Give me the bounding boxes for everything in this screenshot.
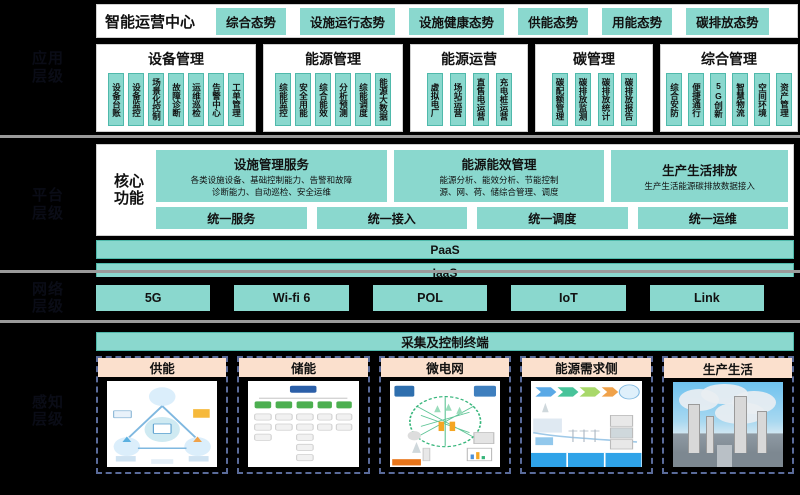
operations-center-title: 智能运营中心: [105, 11, 195, 32]
capability-facility-management-service[interactable]: 设施管理服务 各类设施设备、基础控制能力、告警和故障 诊断能力、自动巡检、安全运…: [156, 150, 387, 202]
chip-virtual-power-plant[interactable]: 虚拟电厂: [427, 73, 443, 126]
chip-carbon-report[interactable]: 碳排放报告: [621, 73, 637, 126]
intelligent-operations-center-bar: 智能运营中心 综合态势 设施运行态势 设施健康态势 供能态势 用能态势 碳排放态…: [96, 4, 798, 38]
group-items: 设备台账 设备监控 场景化控制 故障诊断 运维巡检 告警中心 工单管理: [108, 73, 244, 126]
card-title: 供能: [98, 358, 226, 377]
chip-energy-big-data[interactable]: 能源大数据: [375, 73, 391, 126]
sensing-card-energy-supply[interactable]: 供能: [96, 356, 228, 474]
card-title: 生产生活: [664, 358, 792, 378]
network-layer: 网络 层级 5G Wi-fi 6 POL IoT Link: [0, 277, 800, 319]
layer-separator-1: [0, 135, 800, 138]
chip-space-environment[interactable]: 空间环境: [754, 73, 770, 126]
capability-subtitle: 能源分析、能效分析、节能控制 源、网、荷、储综合管理、调度: [439, 175, 558, 197]
status-pill-energy-use[interactable]: 用能态势: [602, 8, 672, 35]
storage-flowchart-icon: [248, 381, 358, 467]
chip-5g-innovation[interactable]: 5G创新: [710, 73, 726, 126]
unified-dispatch[interactable]: 统一调度: [477, 207, 628, 229]
core-function-card: 核心 功能 设施管理服务 各类设施设备、基础控制能力、告警和故障 诊断能力、自动…: [96, 144, 794, 236]
energy-supply-diagram-icon: [107, 381, 217, 467]
group-energy-management: 能源管理 综能监控 安全用能 综合能效 分析预测 综能调度 能源大数据: [263, 44, 403, 132]
unified-operation[interactable]: 统一运维: [638, 207, 789, 229]
chip-facility-ledger[interactable]: 设备台账: [108, 73, 124, 126]
group-title: 碳管理: [573, 49, 615, 69]
network-chip-wifi6[interactable]: Wi-fi 6: [234, 285, 348, 311]
group-facility-management: 设备管理 设备台账 设备监控 场景化控制 故障诊断 运维巡检 告警中心 工单管理: [96, 44, 256, 132]
chip-direct-power-sales[interactable]: 直售电运营: [473, 73, 489, 126]
group-title: 设备管理: [148, 49, 204, 69]
group-items: 碳配额管理 碳排放监测 碳排放统计 碳排放报告: [552, 73, 637, 126]
capability-production-living-emission[interactable]: 生产生活排放 生产生活能源碳排放数据接入: [611, 150, 788, 202]
sensing-layer: 感知 层级 采集及控制终端 供能: [0, 327, 800, 495]
card-title: 能源需求侧: [522, 358, 650, 377]
network-chip-5g[interactable]: 5G: [96, 285, 210, 311]
acquisition-control-terminal-bar[interactable]: 采集及控制终端: [96, 332, 794, 351]
chip-comprehensive-efficiency[interactable]: 综合能效: [315, 73, 331, 126]
capability-title: 能源能效管理: [461, 154, 536, 173]
chip-carbon-monitoring[interactable]: 碳排放监测: [575, 73, 591, 126]
architecture-diagram: 应用 层级 智能运营中心 综合态势 设施运行态势 设施健康态势 供能态势 用能态…: [0, 0, 800, 495]
layer-separator-2: [0, 270, 800, 273]
network-layer-label: 网络 层级: [0, 277, 96, 319]
capability-subtitle: 各类设施设备、基础控制能力、告警和故障 诊断能力、自动巡检、安全运维: [191, 175, 353, 197]
unified-services-row: 统一服务 统一接入 统一调度 统一运维: [156, 207, 788, 229]
demand-side-flow-diagram-icon: [531, 381, 641, 467]
chip-energy-monitor[interactable]: 综能监控: [275, 73, 291, 126]
layer-separator-3: [0, 320, 800, 323]
platform-layer-label: 平台 层级: [0, 141, 96, 268]
industrial-smokestacks-photo: [673, 382, 783, 467]
network-chips: 5G Wi-fi 6 POL IoT Link: [96, 284, 794, 312]
sensing-layer-label: 感知 层级: [0, 327, 96, 495]
application-groups: 设备管理 设备台账 设备监控 场景化控制 故障诊断 运维巡检 告警中心 工单管理…: [96, 44, 798, 132]
group-items: 综合安防 便捷通行 5G创新 智慧物流 空间环境 资产管理: [666, 73, 792, 126]
capability-title: 设施管理服务: [234, 154, 309, 173]
application-layer-label: 应用 层级: [0, 0, 96, 135]
status-pill-facility-operation[interactable]: 设施运行态势: [300, 8, 395, 35]
network-chip-pol[interactable]: POL: [373, 285, 487, 311]
group-title: 综合管理: [701, 49, 757, 69]
sensing-card-energy-demand-side[interactable]: 能源需求侧: [520, 356, 652, 474]
sensing-cards: 供能: [96, 356, 794, 474]
capability-title: 生产生活排放: [662, 160, 737, 179]
chip-asset-management[interactable]: 资产管理: [776, 73, 792, 126]
unified-service[interactable]: 统一服务: [156, 207, 307, 229]
chip-alarm-center[interactable]: 告警中心: [208, 73, 224, 126]
chip-energy-dispatch[interactable]: 综能调度: [355, 73, 371, 126]
card-title: 微电网: [381, 358, 509, 377]
chip-scenario-control[interactable]: 场景化控制: [148, 73, 164, 126]
group-energy-operation: 能源运营 虚拟电厂 场站运营 直售电运营 充电桩运营: [410, 44, 528, 132]
microgrid-network-diagram-icon: [390, 381, 500, 467]
status-pill-overall[interactable]: 综合态势: [216, 8, 286, 35]
chip-carbon-statistics[interactable]: 碳排放统计: [598, 73, 614, 126]
status-pill-energy-supply[interactable]: 供能态势: [518, 8, 588, 35]
chip-work-order[interactable]: 工单管理: [228, 73, 244, 126]
capability-subtitle: 生产生活能源碳排放数据接入: [644, 181, 755, 192]
chip-station-operation[interactable]: 场站运营: [450, 73, 466, 126]
chip-smart-logistics[interactable]: 智慧物流: [732, 73, 748, 126]
sensing-card-energy-storage[interactable]: 储能: [237, 356, 369, 474]
sensing-card-microgrid[interactable]: 微电网: [379, 356, 511, 474]
group-integrated-management: 综合管理 综合安防 便捷通行 5G创新 智慧物流 空间环境 资产管理: [660, 44, 798, 132]
chip-integrated-security[interactable]: 综合安防: [666, 73, 682, 126]
chip-ops-inspection[interactable]: 运维巡检: [188, 73, 204, 126]
paas-bar[interactable]: PaaS: [96, 240, 794, 259]
group-items: 虚拟电厂 场站运营 直售电运营 充电桩运营: [427, 73, 512, 126]
group-carbon-management: 碳管理 碳配额管理 碳排放监测 碳排放统计 碳排放报告: [535, 44, 653, 132]
unified-access[interactable]: 统一接入: [317, 207, 468, 229]
chip-safe-energy-use[interactable]: 安全用能: [295, 73, 311, 126]
application-layer: 应用 层级 智能运营中心 综合态势 设施运行态势 设施健康态势 供能态势 用能态…: [0, 0, 800, 135]
chip-charging-pile-operation[interactable]: 充电桩运营: [496, 73, 512, 126]
status-pill-carbon-emission[interactable]: 碳排放态势: [686, 8, 769, 35]
chip-fault-diagnosis[interactable]: 故障诊断: [168, 73, 184, 126]
core-function-label: 核心 功能: [102, 150, 156, 230]
network-chip-iot[interactable]: IoT: [511, 285, 625, 311]
platform-layer: 平台 层级 核心 功能 设施管理服务 各类设施设备、基础控制能力、告警和故障 诊…: [0, 141, 800, 268]
chip-facility-monitor[interactable]: 设备监控: [128, 73, 144, 126]
chip-convenient-access[interactable]: 便捷通行: [688, 73, 704, 126]
group-title: 能源运营: [441, 49, 497, 69]
group-title: 能源管理: [305, 49, 361, 69]
card-title: 储能: [239, 358, 367, 377]
sensing-card-production-living[interactable]: 生产生活: [662, 356, 794, 474]
chip-analysis-forecast[interactable]: 分析预测: [335, 73, 351, 126]
network-chip-link[interactable]: Link: [650, 285, 764, 311]
core-capabilities: 设施管理服务 各类设施设备、基础控制能力、告警和故障 诊断能力、自动巡检、安全运…: [156, 150, 788, 202]
capability-energy-efficiency-management[interactable]: 能源能效管理 能源分析、能效分析、节能控制 源、网、荷、储综合管理、调度: [394, 150, 605, 202]
status-pill-facility-health[interactable]: 设施健康态势: [409, 8, 504, 35]
chip-carbon-quota[interactable]: 碳配额管理: [552, 73, 568, 126]
group-items: 综能监控 安全用能 综合能效 分析预测 综能调度 能源大数据: [275, 73, 391, 126]
